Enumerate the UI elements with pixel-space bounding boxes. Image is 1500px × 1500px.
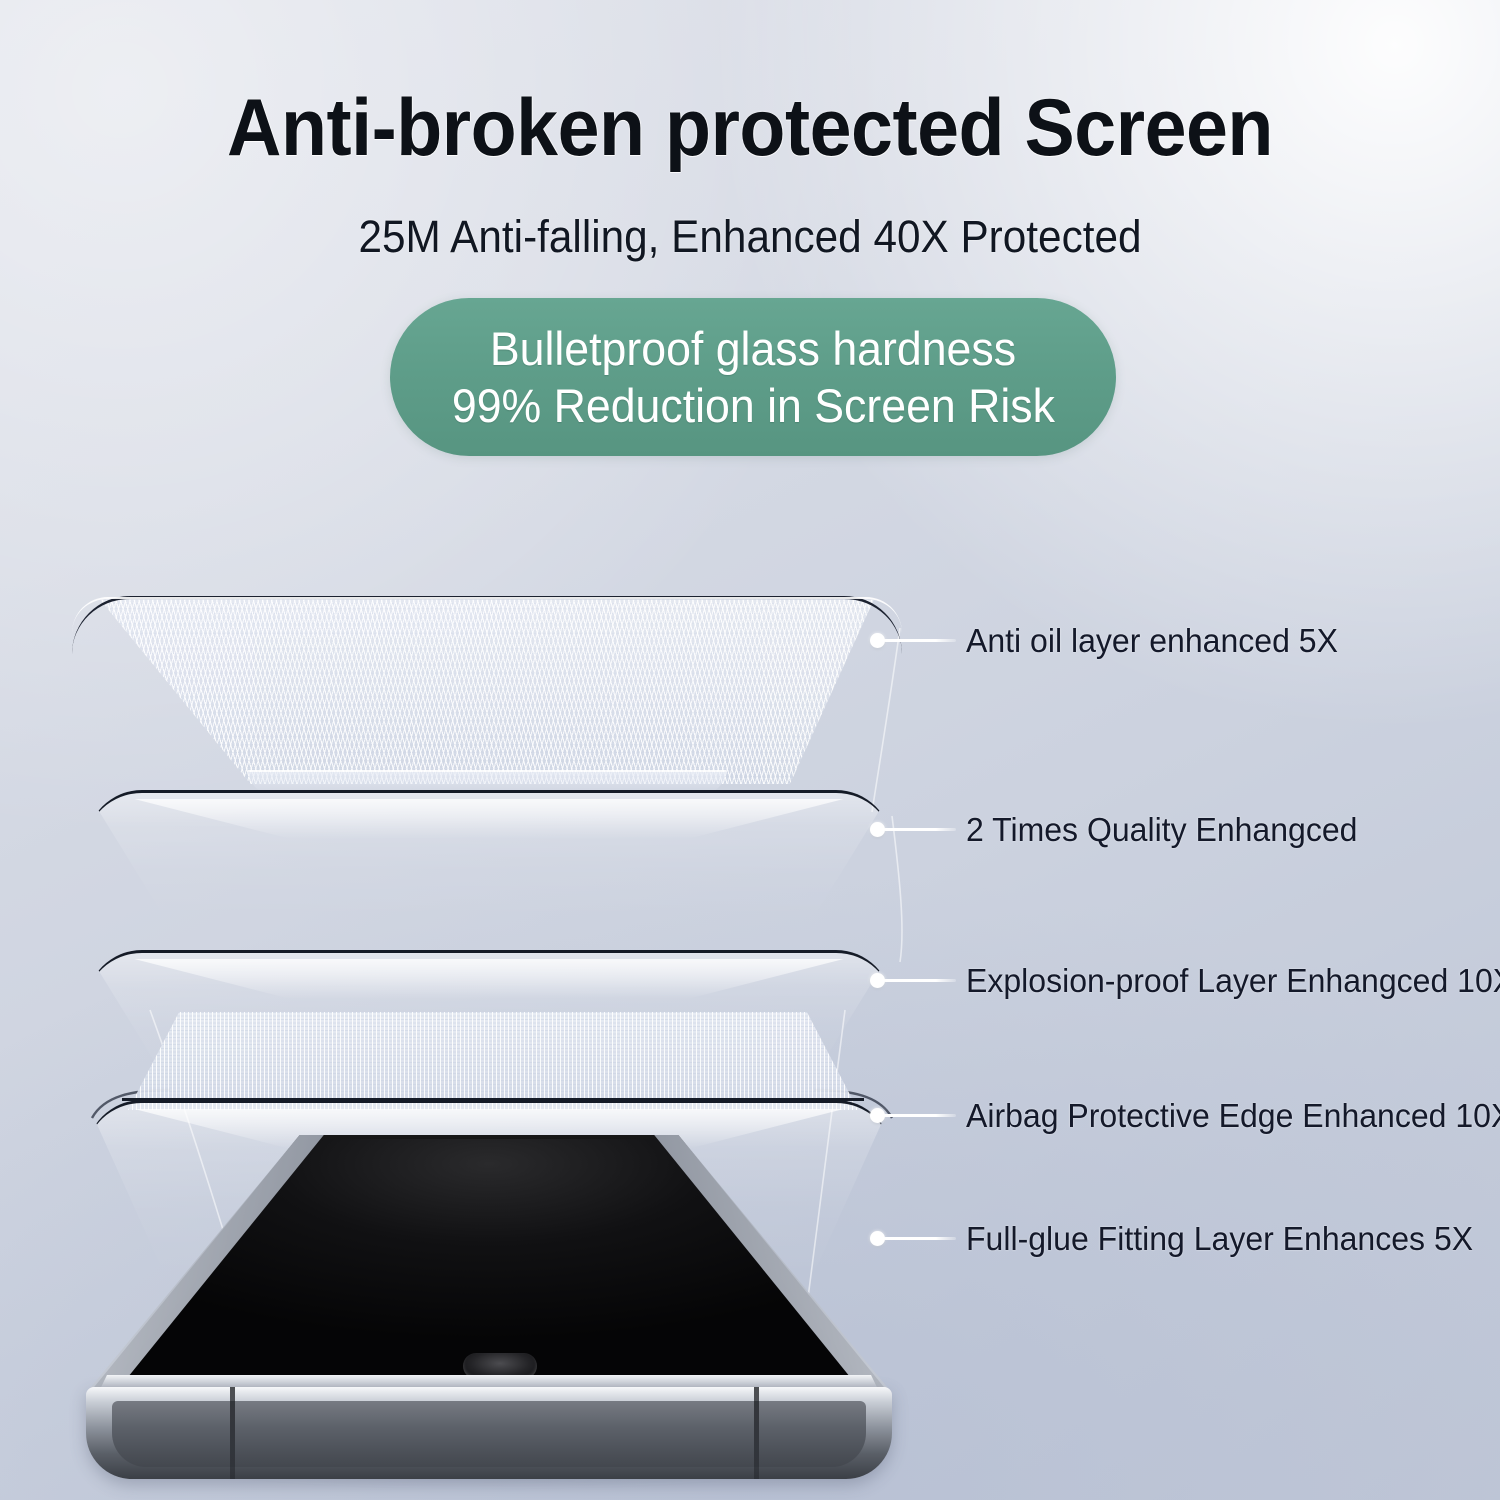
layer-airbag-mesh-rim (122, 1098, 864, 1127)
phone-antenna-band-left (230, 1387, 235, 1479)
connector-dot-icon (870, 633, 885, 648)
callout-full-glue: Full-glue Fitting Layer Enhances 5X (870, 1215, 1489, 1261)
phone-drop-shadow (96, 1440, 886, 1486)
leader-line (884, 639, 956, 642)
callout-anti-oil: Anti oil layer enhanced 5X (870, 617, 1349, 663)
badge-line-1: Bulletproof glass hardness (490, 320, 1016, 377)
layer-explosion-proof-highlight (134, 959, 843, 999)
page-title: Anti-broken protected Screen (53, 88, 1448, 169)
callout-quality: 2 Times Quality Enhangced (870, 806, 1370, 852)
layer-full-glue-highlight (134, 1109, 843, 1149)
leader-line (884, 828, 956, 831)
phone-right-edge (86, 1135, 892, 1393)
phone-screen (86, 1139, 892, 1389)
layer-explosion-proof-glass (86, 950, 892, 1081)
infographic-canvas: Anti-broken protected Screen 25M Anti-fa… (0, 0, 1500, 1500)
layer-quality-glass (86, 790, 892, 921)
layer-airbag-mesh (128, 1012, 858, 1110)
callout-label-full-glue: Full-glue Fitting Layer Enhances 5X (966, 1222, 1473, 1255)
hardness-badge: Bulletproof glass hardness 99% Reduction… (390, 298, 1116, 456)
phone-left-edge (86, 1135, 892, 1393)
layer-anti-oil-highlight (72, 597, 902, 633)
connector-dot-icon (870, 822, 885, 837)
layer-anti-oil-bottom-edge (248, 770, 726, 794)
page-subtitle: 25M Anti-falling, Enhanced 40X Protected (45, 214, 1455, 259)
callout-label-explosion-proof: Explosion-proof Layer Enhangced 10X (966, 964, 1500, 997)
layer-anti-oil-rim (72, 596, 902, 787)
connector-dot-icon (870, 1231, 885, 1246)
phone-chin (86, 1375, 892, 1395)
layer-full-glue-glass (86, 1100, 892, 1279)
connector-dot-icon (870, 1108, 885, 1123)
phone-antenna-band-right (754, 1387, 759, 1479)
callout-label-airbag-edge: Airbag Protective Edge Enhanced 10X (966, 1099, 1500, 1132)
callout-label-anti-oil: Anti oil layer enhanced 5X (966, 624, 1338, 657)
badge-line-2: 99% Reduction in Screen Risk (451, 377, 1054, 434)
callout-explosion-proof: Explosion-proof Layer Enhangced 10X (870, 957, 1500, 1003)
connector-dot-icon (870, 973, 885, 988)
leader-line (884, 1237, 956, 1240)
leader-line (884, 979, 956, 982)
phone-bottom-frame (86, 1387, 892, 1479)
layer-anti-oil-sheet (72, 596, 902, 784)
phone-device (86, 1135, 892, 1465)
callout-airbag-edge: Airbag Protective Edge Enhanced 10X (870, 1092, 1500, 1138)
phone-speaker-port (463, 1353, 537, 1379)
leader-line (884, 1114, 956, 1117)
callout-label-quality: 2 Times Quality Enhangced (966, 813, 1357, 846)
phone-body (86, 1135, 892, 1397)
phone-frame-inner-face (112, 1401, 866, 1467)
layer-quality-glass-highlight (134, 799, 843, 839)
